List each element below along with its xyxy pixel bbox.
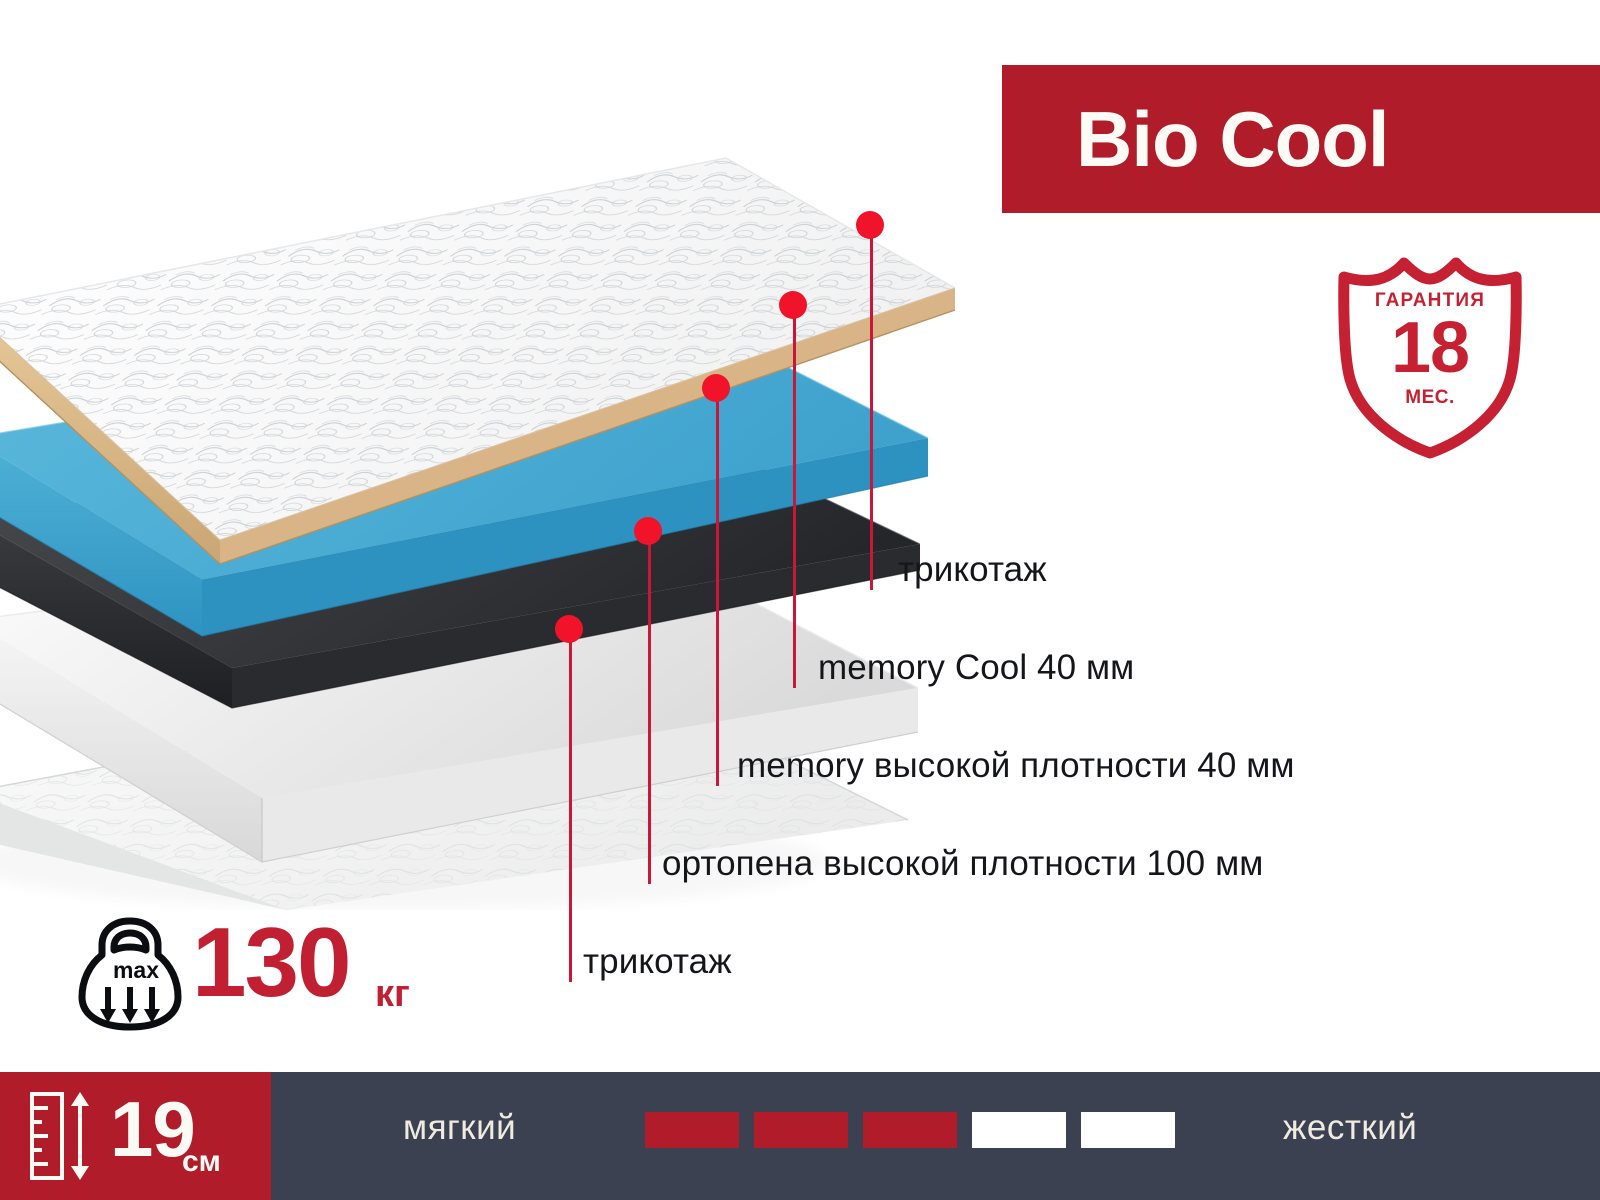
leader-line-1 xyxy=(870,232,873,590)
leader-line-2 xyxy=(793,312,796,688)
height-unit: см xyxy=(182,1145,221,1179)
layer-label-5: трикотаж xyxy=(583,942,732,982)
leader-line-3 xyxy=(716,395,719,786)
layer-label-1: трикотаж xyxy=(898,550,1047,590)
firmness-segment-4 xyxy=(972,1112,1066,1148)
layer-label-3: memory высокой плотности 40 мм xyxy=(737,746,1295,786)
height-spec-block: 19 см xyxy=(0,1072,271,1200)
mattress-layers-illustration xyxy=(0,120,980,910)
leader-line-5 xyxy=(569,636,572,982)
weight-capacity-value: 130 xyxy=(192,913,350,1011)
firmness-soft-label: мягкий xyxy=(403,1108,516,1148)
firmness-segment-1 xyxy=(645,1112,739,1148)
bottom-spec-bar: 19 см мягкий жесткий xyxy=(0,1072,1600,1200)
layer-marker-dot-3 xyxy=(702,374,730,402)
layer-label-2: memory Cool 40 мм xyxy=(818,648,1134,688)
firmness-segment-3 xyxy=(863,1112,957,1148)
warranty-unit: МЕС. xyxy=(1330,387,1530,409)
weight-icon-max-label: max xyxy=(86,957,186,984)
leader-line-4 xyxy=(648,538,651,884)
firmness-scale xyxy=(645,1112,1207,1148)
firmness-segment-2 xyxy=(754,1112,848,1148)
product-title-banner: Bio Cool xyxy=(1002,65,1600,213)
layer-marker-dot-4 xyxy=(634,517,662,545)
layer-marker-dot-5 xyxy=(555,615,583,643)
ruler-height-icon xyxy=(28,1090,98,1182)
firmness-firm-label: жесткий xyxy=(1283,1108,1417,1148)
warranty-value: 18 xyxy=(1330,307,1530,390)
warranty-badge: ГАРАНТИЯ 18 МЕС. xyxy=(1330,255,1530,460)
infographic-canvas: Bio Cool ГАРАНТИЯ 18 МЕС. трикотаж memor… xyxy=(0,0,1600,1200)
weight-capacity-unit: кг xyxy=(375,973,410,1016)
product-title: Bio Cool xyxy=(1076,100,1389,178)
layer-marker-dot-1 xyxy=(856,211,884,239)
layer-label-4: ортопена высокой плотности 100 мм xyxy=(662,844,1263,884)
firmness-segment-5 xyxy=(1081,1112,1175,1148)
weight-capacity-block: max 130 кг xyxy=(70,905,470,1040)
layer-marker-dot-2 xyxy=(779,291,807,319)
